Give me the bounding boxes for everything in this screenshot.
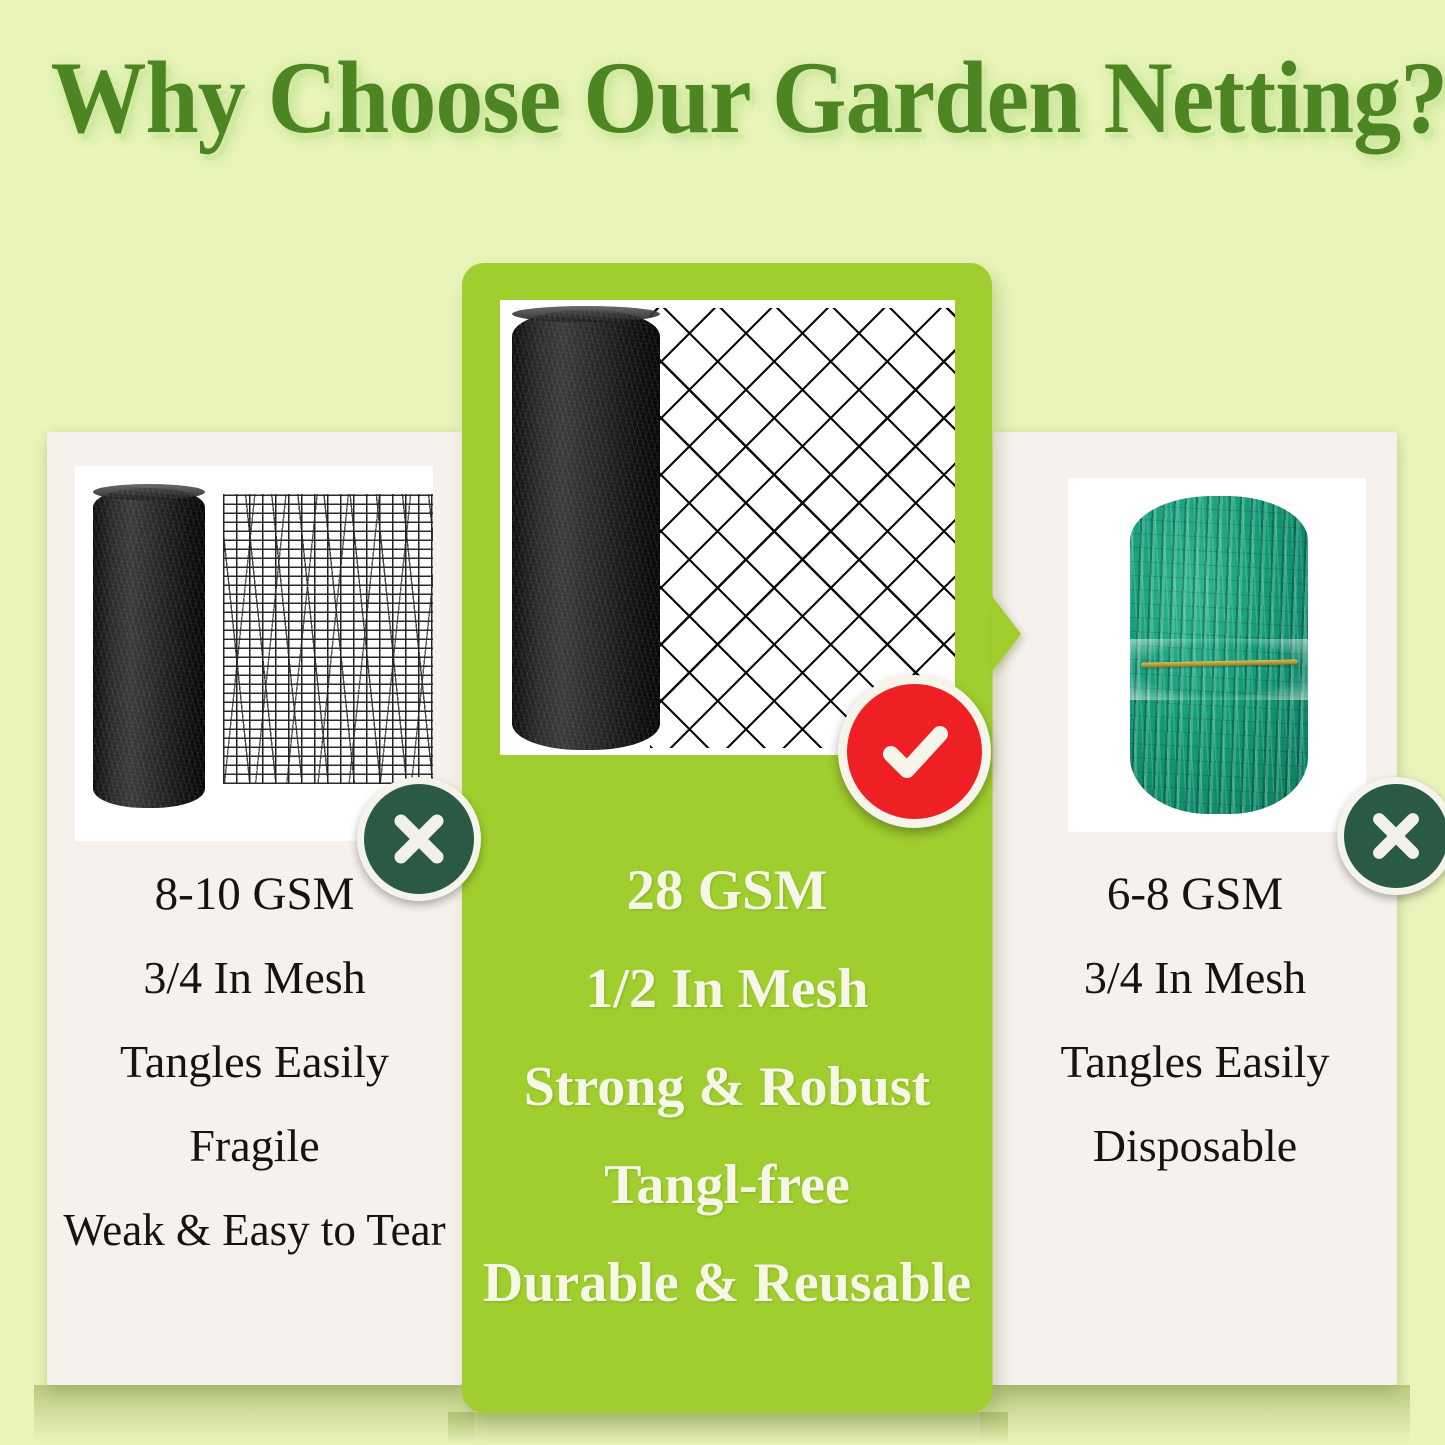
spec-item: Tangles Easily: [47, 1020, 462, 1104]
spec-item: Disposable: [993, 1104, 1397, 1188]
netting-roll-black-fine: [93, 488, 205, 808]
spec-item: Weak & Easy to Tear: [47, 1188, 462, 1272]
fine-mesh-fabric: [223, 494, 433, 784]
card-ground-shadow-right: [980, 1385, 1410, 1443]
spec-item: Durable & Reusable: [462, 1234, 992, 1332]
roll-top-edge: [512, 306, 660, 322]
right-arrow-pointer: [991, 595, 1021, 673]
spec-list-center: 28 GSM 1/2 In Mesh Strong & Robust Tangl…: [462, 842, 992, 1332]
page-title: Why Choose Our Garden Netting?: [51, 42, 1395, 154]
spec-emphasis: 1/2: [585, 958, 657, 1020]
spec-rest: In Mesh: [657, 958, 869, 1020]
spec-item: 1/2 In Mesh: [462, 940, 992, 1038]
roll-top-edge: [93, 484, 205, 500]
spec-item: 3/4 In Mesh: [993, 936, 1397, 1020]
netting-roll-black-diamond: [512, 310, 660, 750]
spec-emphasis: 28: [626, 859, 683, 922]
spec-rest: Strong & Robust: [524, 1056, 931, 1118]
check-mark-icon: [838, 675, 991, 828]
bundle-body: [1130, 496, 1308, 814]
green-netting-bundle: [1130, 496, 1308, 814]
spec-item: Strong & Robust: [462, 1038, 992, 1136]
spec-rest: GSM: [683, 859, 827, 922]
spec-item: 28 GSM: [462, 842, 992, 940]
card-ground-shadow-center: [448, 1412, 1008, 1445]
x-mark-icon: [1337, 777, 1445, 895]
card-ground-shadow-left: [34, 1385, 474, 1443]
spec-item: Tangl-free: [462, 1136, 992, 1234]
product-image-right: [1068, 478, 1366, 832]
spec-rest: Tangl-free: [604, 1154, 850, 1216]
spec-list-right: 6-8 GSM 3/4 In Mesh Tangles Easily Dispo…: [993, 852, 1397, 1188]
spec-item: Fragile: [47, 1104, 462, 1188]
spec-list-left: 8-10 GSM 3/4 In Mesh Tangles Easily Frag…: [47, 852, 462, 1272]
spec-item: Tangles Easily: [993, 1020, 1397, 1104]
x-mark-icon: [357, 777, 481, 901]
spec-item: 6-8 GSM: [993, 852, 1397, 936]
spec-item: 3/4 In Mesh: [47, 936, 462, 1020]
spec-rest: Durable & Reusable: [483, 1252, 971, 1314]
infographic-canvas: Why Choose Our Garden Netting? 8-10 GSM …: [0, 0, 1445, 1445]
product-image-left: [75, 466, 433, 841]
